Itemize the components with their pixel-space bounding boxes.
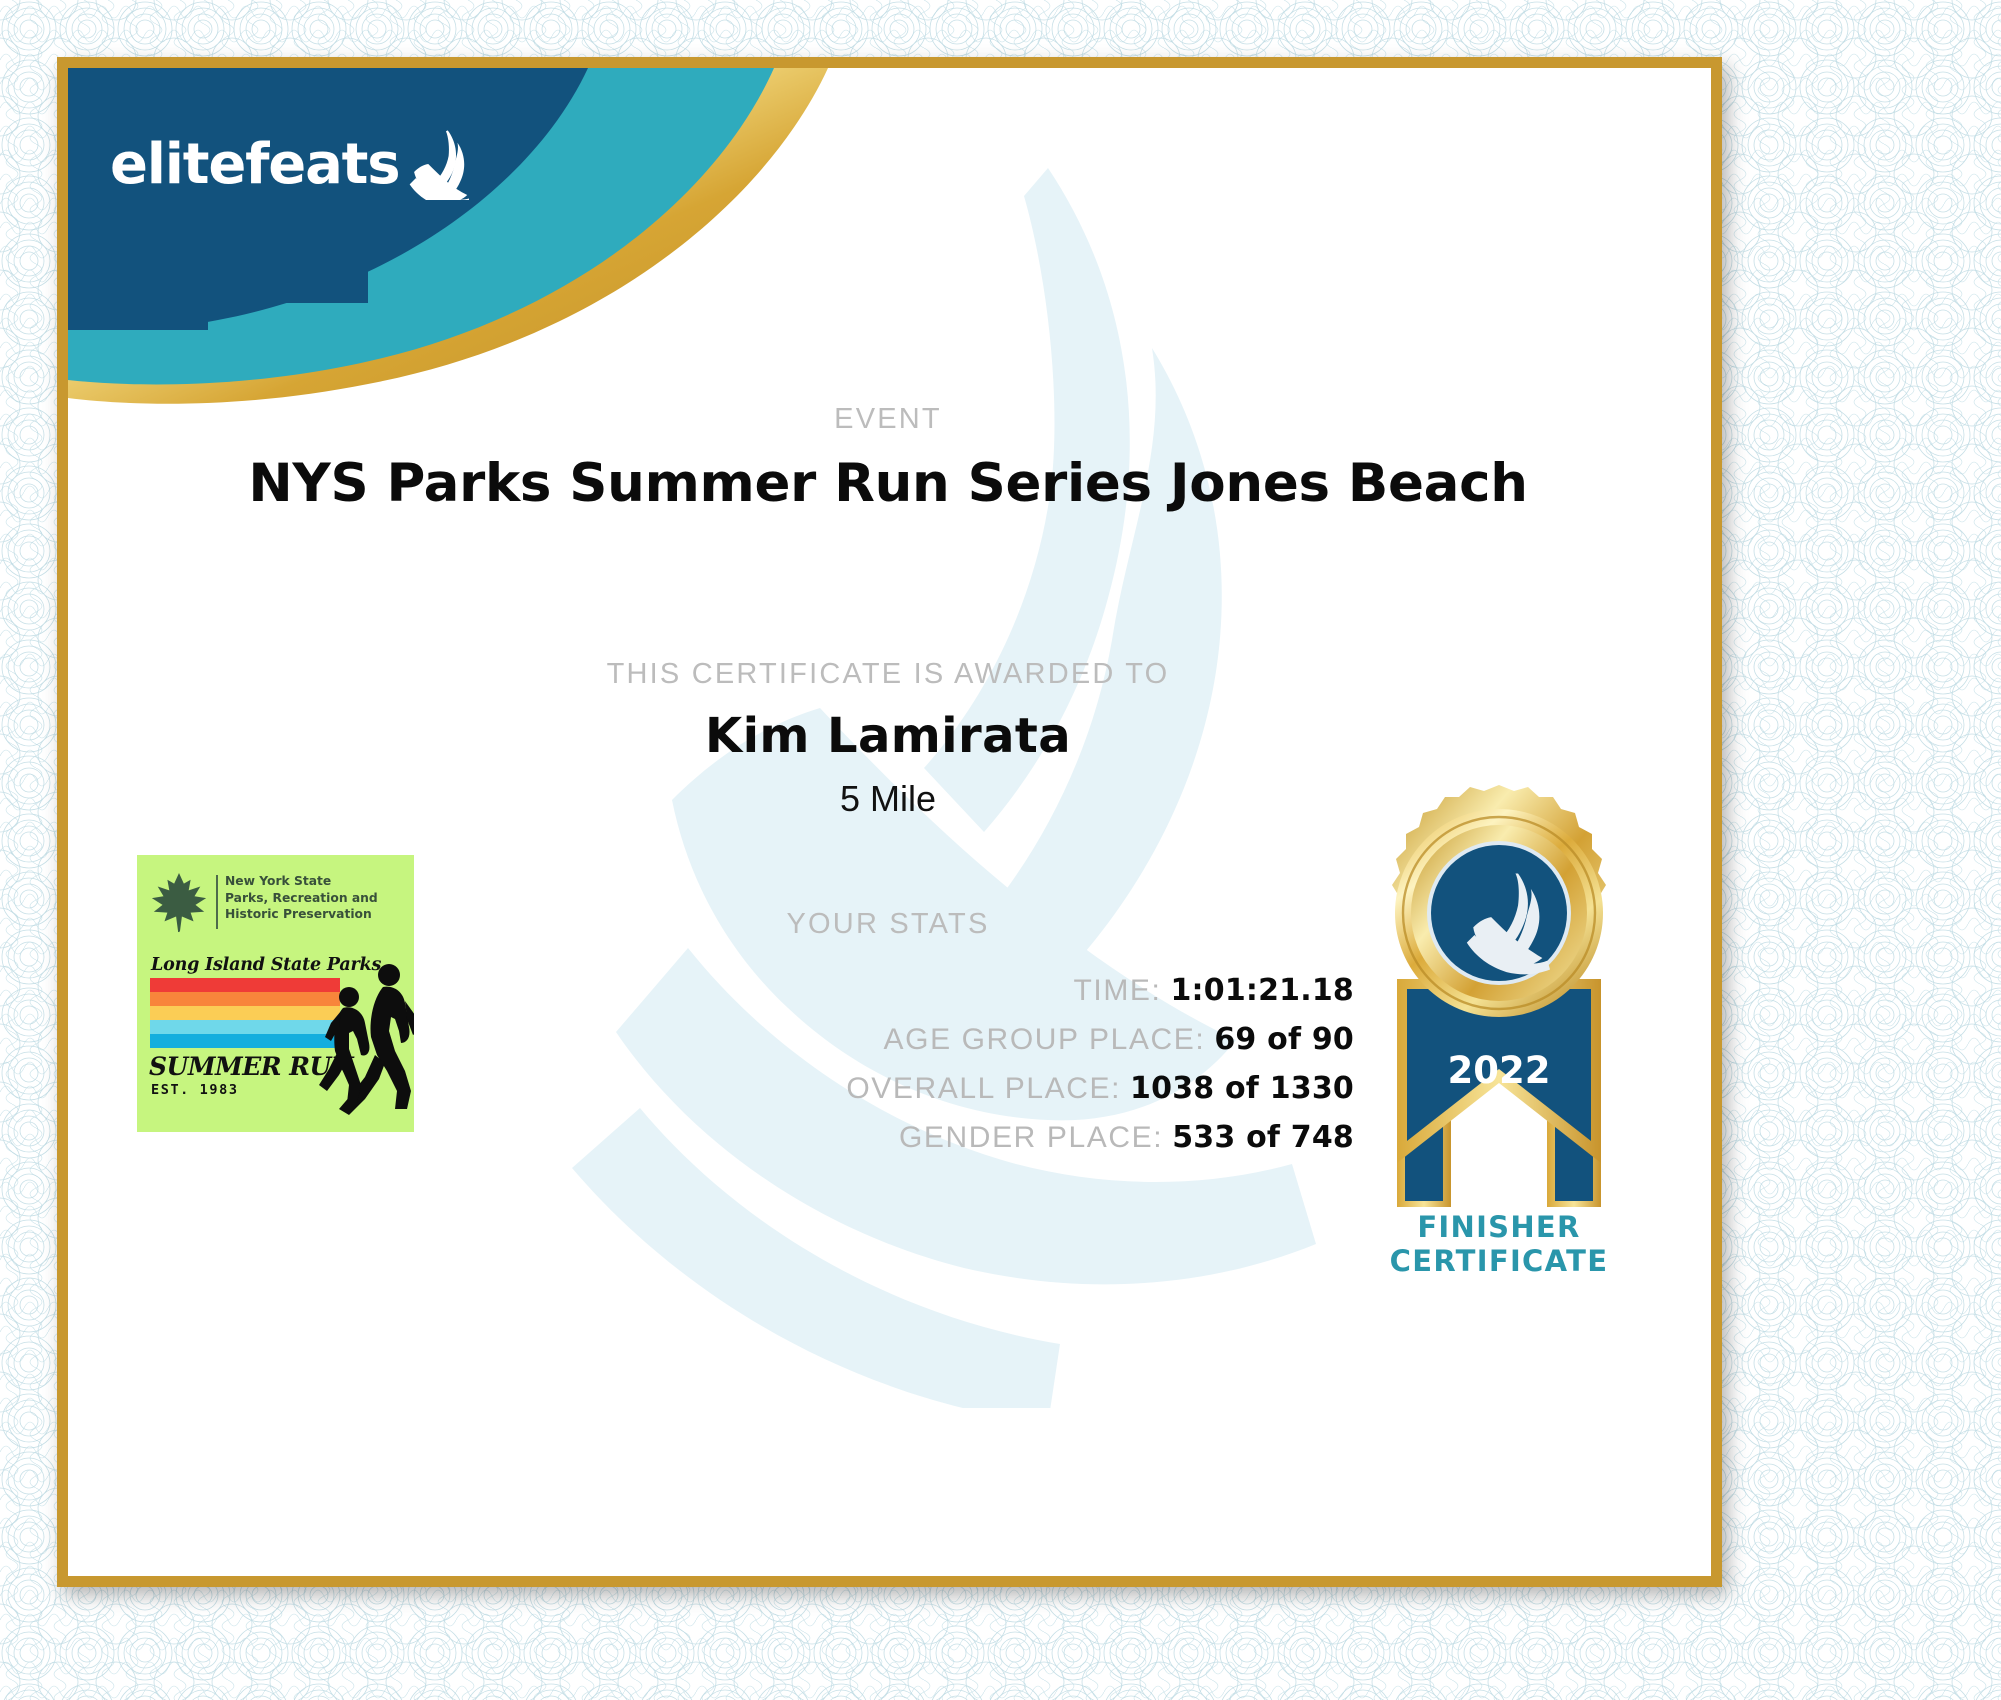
maple-leaf-icon [149, 871, 209, 933]
stat-key: AGE GROUP PLACE: [884, 1023, 1206, 1057]
finisher-caption: FINISHER CERTIFICATE [1339, 1210, 1659, 1278]
agency-line-1: New York State [225, 873, 378, 890]
event-title: NYS Parks Summer Run Series Jones Beach [188, 453, 1588, 514]
awarded-to-label: THIS CERTIFICATE IS AWARDED TO [268, 658, 1508, 691]
runners-silhouette-icon [315, 959, 414, 1129]
stat-key: OVERALL PLACE: [846, 1072, 1121, 1106]
brand-name: elitefeats [110, 132, 399, 197]
sponsor-logo: New York State Parks, Recreation and His… [137, 855, 414, 1132]
finisher-medal: 2022 [1339, 783, 1659, 1213]
finisher-caption-line-1: FINISHER [1339, 1210, 1659, 1244]
rainbow-bars [150, 978, 340, 1048]
logo-divider [216, 875, 218, 929]
stats-label: YOUR STATS [268, 908, 1508, 941]
event-label: EVENT [268, 403, 1508, 436]
finisher-caption-line-2: CERTIFICATE [1339, 1244, 1659, 1278]
agency-line-2: Parks, Recreation and [225, 890, 378, 907]
recipient-name: Kim Lamirata [268, 708, 1508, 764]
stat-value: 1038 of 1330 [1130, 1071, 1354, 1106]
medal-year: 2022 [1448, 1049, 1551, 1092]
sponsor-agency-name: New York State Parks, Recreation and His… [225, 871, 378, 923]
stat-key: GENDER PLACE: [899, 1121, 1163, 1155]
stat-value: 533 of 748 [1172, 1120, 1354, 1155]
agency-line-3: Historic Preservation [225, 906, 378, 923]
stat-value: 1:01:21.18 [1170, 973, 1354, 1008]
certificate-card: elitefeats EVENT NYS Parks Summer Run Se… [57, 57, 1722, 1587]
stat-row-overall-place: OVERALL PLACE: 1038 of 1330 [398, 1071, 1398, 1106]
winged-foot-icon [407, 128, 469, 200]
stat-row-age-group-place: AGE GROUP PLACE: 69 of 90 [398, 1022, 1398, 1057]
race-distance: 5 Mile [268, 778, 1508, 820]
stat-row-gender-place: GENDER PLACE: 533 of 748 [398, 1120, 1398, 1155]
stat-row-time: TIME: 1:01:21.18 [398, 973, 1398, 1008]
stat-key: TIME: [1073, 974, 1161, 1008]
elitefeats-logo: elitefeats [110, 128, 469, 200]
stats-list: TIME: 1:01:21.18 AGE GROUP PLACE: 69 of … [398, 973, 1398, 1169]
stat-value: 69 of 90 [1214, 1022, 1354, 1057]
